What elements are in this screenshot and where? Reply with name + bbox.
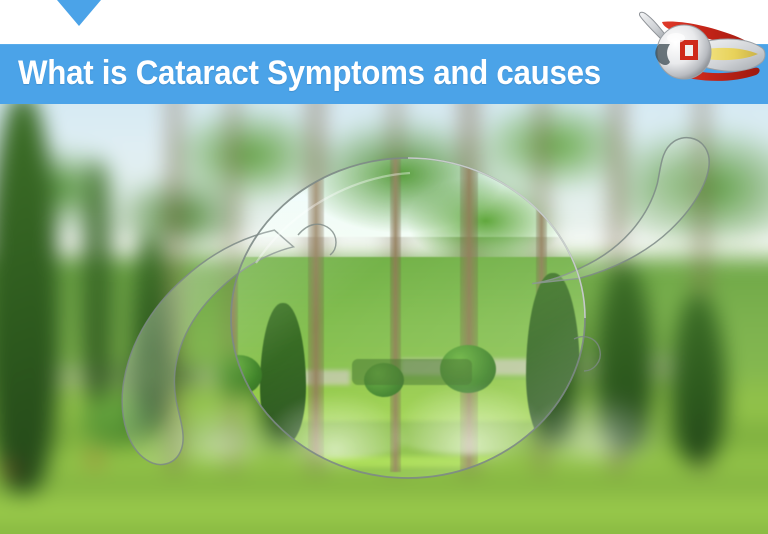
hero-image bbox=[0, 103, 768, 534]
intraocular-lens-overlay bbox=[0, 103, 768, 534]
globe-highlight bbox=[667, 33, 685, 43]
hero-banner: What is Cataract Symptoms and causes bbox=[0, 0, 768, 534]
triangle-down-icon bbox=[57, 0, 101, 26]
lens-optic bbox=[231, 158, 585, 478]
eyeball-anatomy-logo-icon[interactable] bbox=[632, 4, 768, 90]
macula-marker-inner bbox=[685, 45, 693, 56]
page-title: What is Cataract Symptoms and causes bbox=[18, 48, 601, 98]
